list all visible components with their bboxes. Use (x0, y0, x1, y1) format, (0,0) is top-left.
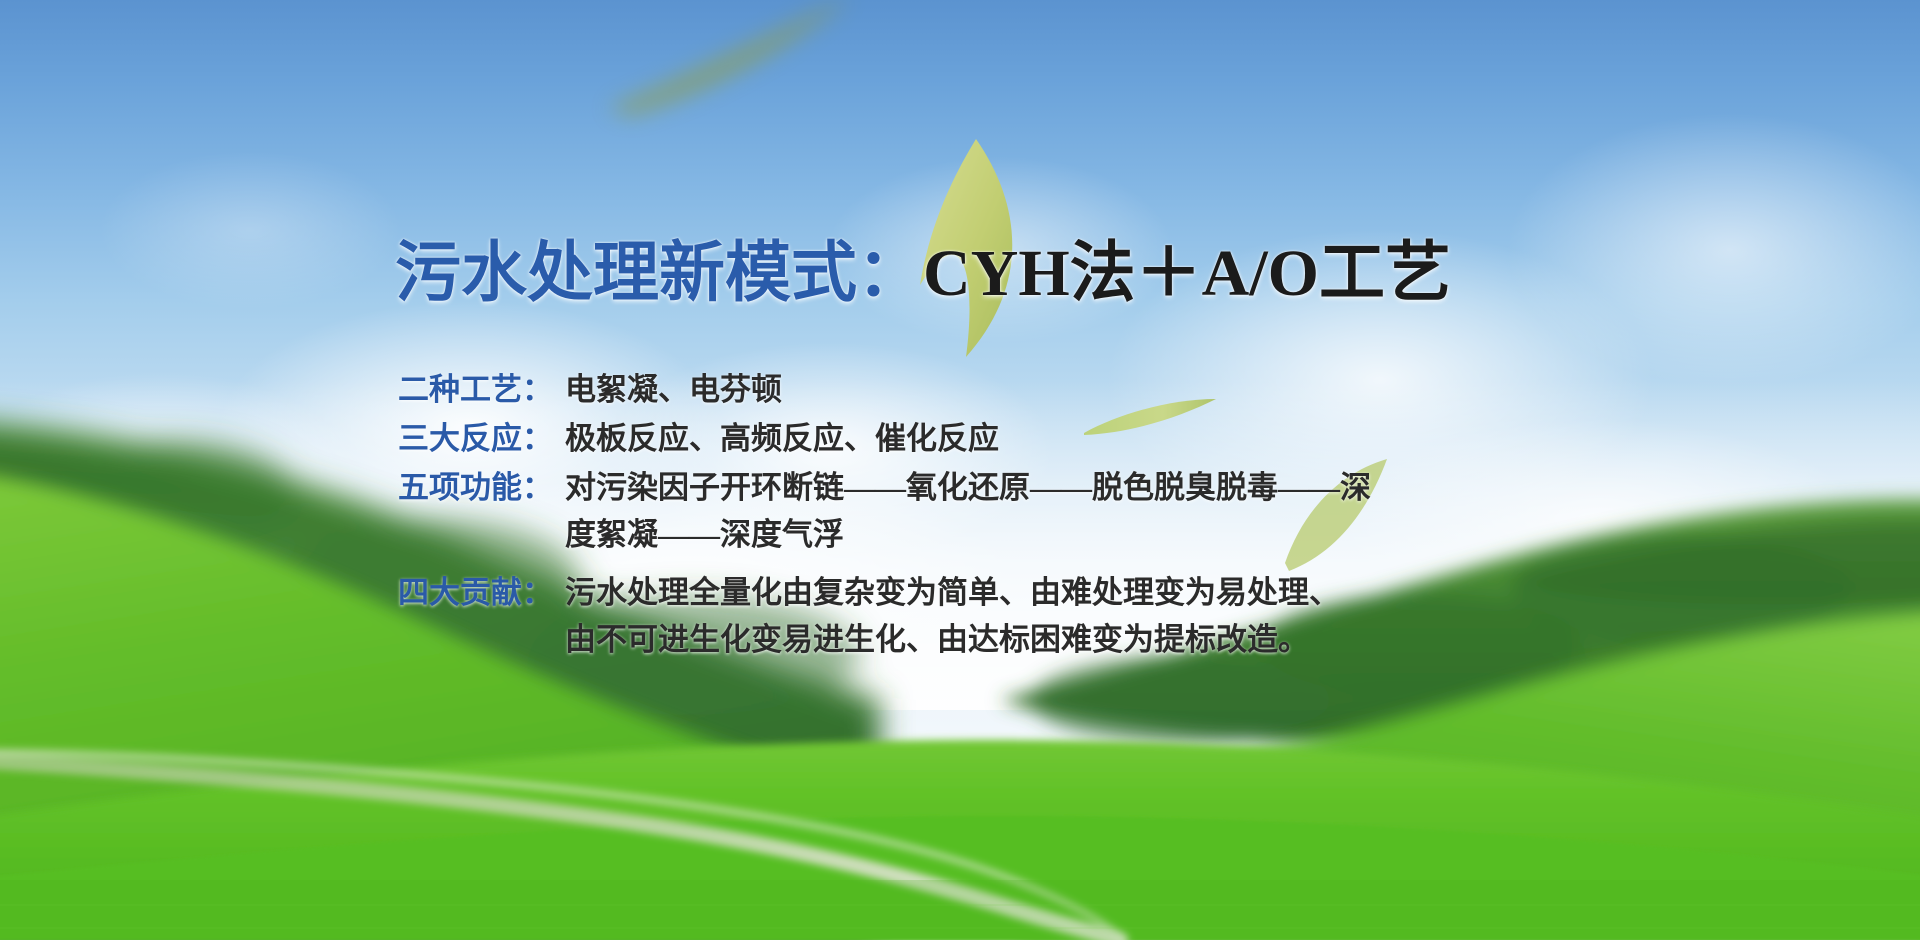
list-item: 四大贡献： 污水处理全量化由复杂变为简单、由难处理变为易处理、 (398, 569, 1371, 616)
list-item-text: 对污染因子开环断链——氧化还原——脱色脱臭脱毒——深 (565, 464, 1371, 511)
list-item-continuation: 度絮凝——深度气浮 (398, 511, 1371, 558)
title-blue-segment: 污水处理新模式： (395, 237, 923, 310)
list-item-text: 度絮凝——深度气浮 (565, 511, 844, 558)
slide-canvas: 污水处理新模式：CYH法＋A/O工艺 二种工艺： 电絮凝、电芬顿 三大反应： 极… (0, 0, 1920, 940)
list-item-text: 由不可进生化变易进生化、由达标困难变为提标改造。 (565, 616, 1309, 663)
list-item-text: 极板反应、高频反应、催化反应 (565, 415, 999, 462)
bullet-list: 二种工艺： 电絮凝、电芬顿 三大反应： 极板反应、高频反应、催化反应 五项功能：… (398, 366, 1371, 665)
title-dark-segment: CYH法＋A/O工艺 (923, 237, 1451, 310)
list-item: 二种工艺： 电絮凝、电芬顿 (398, 366, 1371, 413)
list-item-label: 五项功能： (398, 464, 565, 511)
spacer (398, 560, 1371, 569)
page-title: 污水处理新模式：CYH法＋A/O工艺 (395, 238, 1451, 311)
list-item: 三大反应： 极板反应、高频反应、催化反应 (398, 415, 1371, 462)
list-item-text: 污水处理全量化由复杂变为简单、由难处理变为易处理、 (565, 569, 1340, 616)
list-item-label: 二种工艺： (398, 366, 565, 413)
list-item: 五项功能： 对污染因子开环断链——氧化还原——脱色脱臭脱毒——深 (398, 464, 1371, 511)
list-item-label: 四大贡献： (398, 569, 565, 616)
list-item-text: 电絮凝、电芬顿 (565, 366, 782, 413)
list-item-continuation: 由不可进生化变易进生化、由达标困难变为提标改造。 (398, 616, 1371, 663)
slide-text-content: 污水处理新模式：CYH法＋A/O工艺 二种工艺： 电絮凝、电芬顿 三大反应： 极… (0, 0, 1920, 940)
list-item-label: 三大反应： (398, 415, 565, 462)
